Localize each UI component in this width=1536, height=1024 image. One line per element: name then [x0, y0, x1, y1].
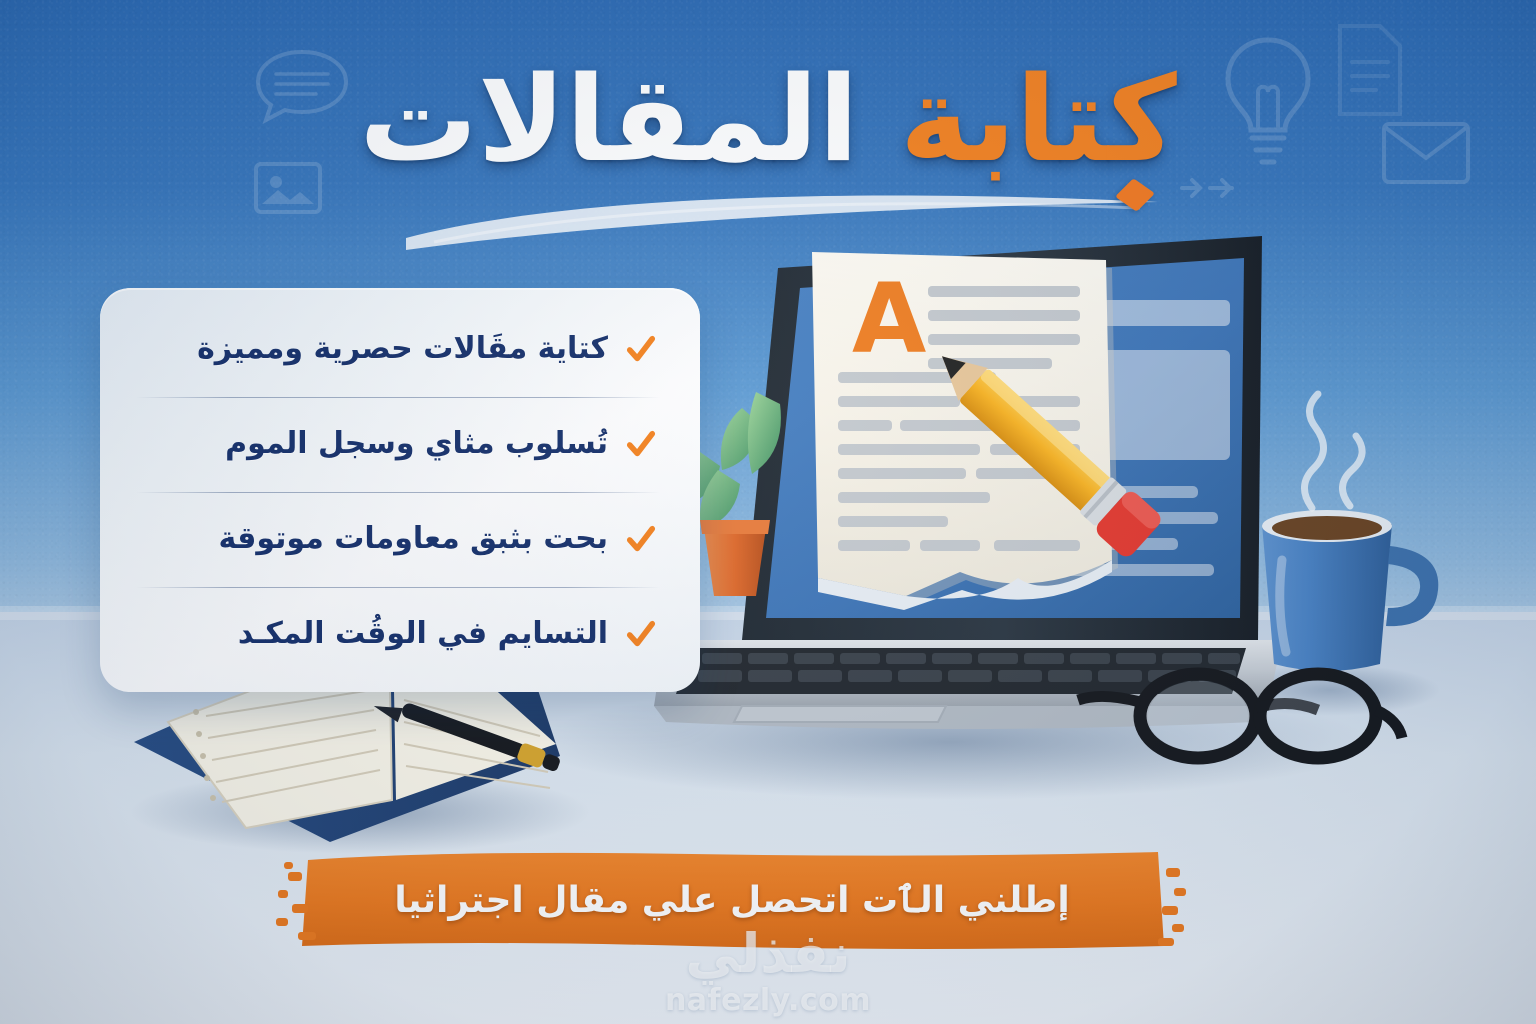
cta-banner[interactable]: إطلني الٱت اتحصل علي مقال اجتراثيا [272, 846, 1192, 954]
check-icon [626, 525, 656, 555]
document-drop-cap: A [852, 263, 926, 375]
features-card: كتاية مقَالات حصرية ومميزة تُسلوب مثاي و… [100, 288, 700, 692]
feature-row-2: تُسلوب مثاي وسجل الموم [118, 397, 678, 492]
title-word-orange: كتابة [900, 50, 1177, 188]
feature-row-1: كتاية مقَالات حصرية ومميزة [118, 302, 678, 397]
page-title: كتابة المقالات [0, 58, 1536, 182]
watermark-domain: nafezly.com [0, 983, 1536, 1018]
title-word-white: المقالات [359, 50, 859, 188]
features-list: كتاية مقَالات حصرية ومميزة تُسلوب مثاي و… [100, 288, 700, 692]
cta-label: إطلني الٱت اتحصل علي مقال اجتراثيا [272, 846, 1192, 954]
feature-label: تُسلوب مثاي وسجل الموم [225, 427, 608, 462]
article-writing-banner: كتابة المقالات [0, 0, 1536, 1024]
feature-label: بحت بثبق معاومات موتوقة [219, 522, 608, 557]
feature-label: كتاية مقَالات حصرية ومميزة [197, 332, 608, 367]
check-icon [626, 335, 656, 365]
feature-label: التسايم في الوقُت المكـد [238, 617, 608, 652]
check-icon [626, 620, 656, 650]
feature-row-4: التسايم في الوقُت المكـد [118, 587, 678, 682]
check-icon [626, 430, 656, 460]
feature-row-3: بحت بثبق معاومات موتوقة [118, 492, 678, 587]
